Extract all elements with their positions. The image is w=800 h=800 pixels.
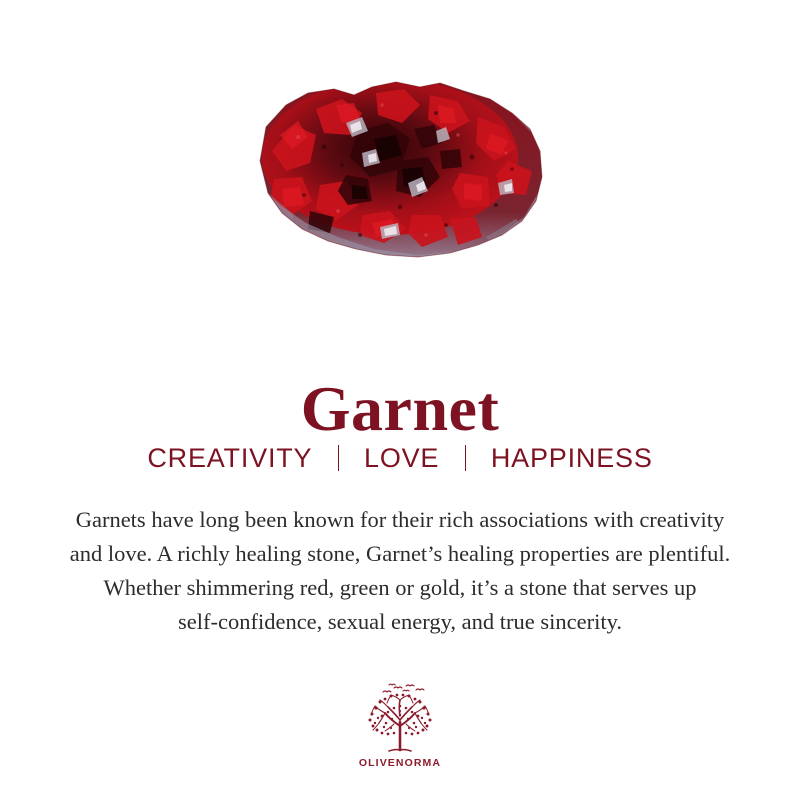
brand-wordmark: OLIVENORMA: [359, 757, 441, 769]
keyword-list: CREATIVITY LOVE HAPPINESS: [0, 444, 800, 474]
product-info-card: Garnet CREATIVITY LOVE HAPPINESS Garnets…: [0, 0, 800, 800]
brand-logo: OLIVENORMA: [0, 682, 800, 769]
keyword-separator-icon: [338, 445, 339, 471]
garnet-crystal-cluster-image: [250, 65, 550, 270]
gemstone-image-container: [0, 52, 800, 282]
description-line: and love. A richly healing stone, Garnet…: [18, 537, 782, 571]
description-line: self-confidence, sexual energy, and true…: [18, 605, 782, 639]
stone-body: [250, 65, 550, 270]
keyword-creativity: CREATIVITY: [147, 444, 312, 474]
keyword-love: LOVE: [364, 444, 439, 474]
tree-with-birds-icon: [358, 682, 442, 754]
description-paragraph: Garnets have long been known for their r…: [18, 503, 782, 639]
page-title: Garnet: [0, 377, 800, 441]
description-line: Garnets have long been known for their r…: [18, 503, 782, 537]
keyword-separator-icon: [465, 445, 466, 471]
keyword-happiness: HAPPINESS: [491, 444, 653, 474]
description-line: Whether shimmering red, green or gold, i…: [18, 571, 782, 605]
